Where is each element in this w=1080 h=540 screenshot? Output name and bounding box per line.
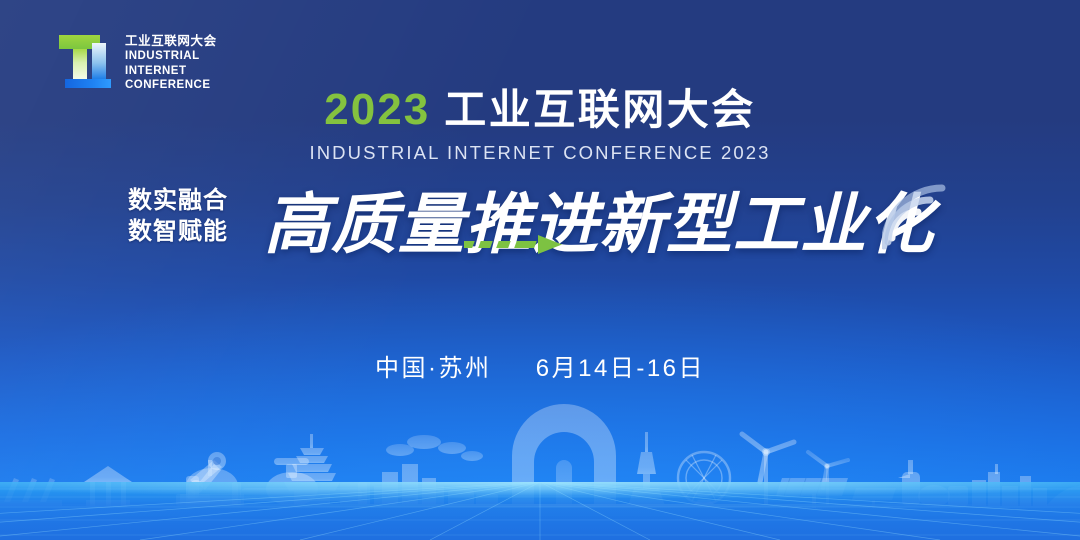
event-dates: 6月14日-16日	[536, 355, 705, 382]
slogan-secondary-line-1: 数实融合	[128, 185, 260, 216]
logo-english-line-2: INTERNET	[125, 64, 217, 79]
headline-title-row: 2023 工业互联网大会	[324, 88, 755, 132]
green-forward-arrow-icon	[464, 232, 574, 258]
industrial-internet-conference-logo-mark-icon	[56, 30, 116, 92]
logo-text-block: 工业互联网大会 INDUSTRIAL INTERNET CONFERENCE	[125, 30, 217, 93]
conference-banner: 工业互联网大会 INDUSTRIAL INTERNET CONFERENCE 2…	[0, 0, 1080, 540]
wifi-signal-arcs-icon	[882, 172, 960, 250]
slogan-block: 数实融合 数智赋能 高质量推进新型工业化	[128, 178, 952, 274]
logo-chinese-name: 工业互联网大会	[125, 34, 217, 49]
headline-year: 2023	[324, 88, 430, 132]
slogan-main-text: 高质量推进新型工业化	[264, 178, 934, 270]
perspective-ground-grid	[0, 482, 1080, 540]
headline-title-english: INDUSTRIAL INTERNET CONFERENCE 2023	[0, 142, 1080, 164]
event-dateline: 中国·苏州 6月14日-16日	[0, 348, 1080, 383]
slogan-secondary-line-2: 数智赋能	[128, 216, 260, 247]
headline-title-chinese: 工业互联网大会	[444, 89, 756, 131]
logo-english-line-1: INDUSTRIAL	[125, 49, 217, 64]
event-location: 中国·苏州	[375, 355, 492, 382]
headline-block: 2023 工业互联网大会 INDUSTRIAL INTERNET CONFERE…	[0, 88, 1080, 164]
slogan-secondary-lines: 数实融合 数智赋能	[128, 185, 260, 247]
conference-logo[interactable]: 工业互联网大会 INDUSTRIAL INTERNET CONFERENCE	[56, 30, 217, 93]
